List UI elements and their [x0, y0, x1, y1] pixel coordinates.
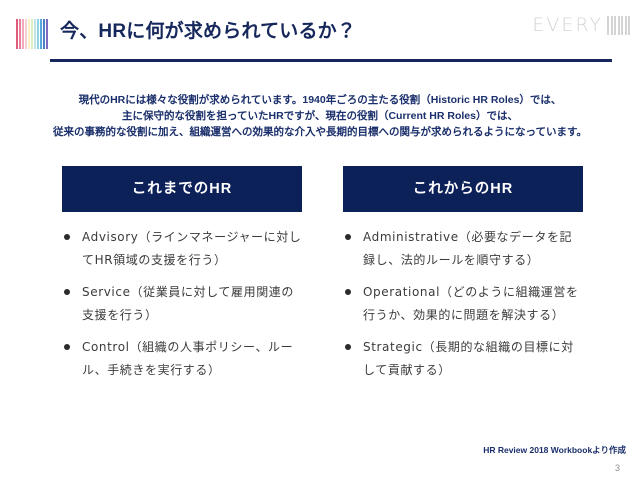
list-item: Service（従業員に対して雇用関連の支援を行う） [62, 281, 302, 327]
column-heading-past: これまでのHR [62, 166, 302, 212]
bullet-dot-icon [64, 344, 70, 350]
title-divider [50, 59, 612, 62]
lead-line-3: 従来の事務的な役割に加え、組織運営への効果的な介入や長期的目標への関与が求められ… [20, 124, 620, 140]
lead-paragraph: 現代のHRには様々な役割が求められています。1940年ごろの主たる役割（Hist… [20, 92, 620, 140]
list-item: Advisory（ラインマネージャーに対してHR領域の支援を行う） [62, 226, 302, 272]
slide-header: 今、HRに何が求められているか？ EVERY [0, 0, 640, 64]
bullet-dot-icon [345, 344, 351, 350]
bullet-dot-icon [345, 289, 351, 295]
list-item: Control（組織の人事ポリシー、ルール、手続きを実行する） [62, 336, 302, 382]
lead-line-2: 主に保守的な役割を担っていたHRですが、現在の役割（Current HR Rol… [20, 108, 620, 124]
brand-logo: EVERY [532, 14, 630, 36]
list-item: Strategic（長期的な組織の目標に対して貢献する） [343, 336, 583, 382]
brand-bars-icon [607, 16, 630, 35]
bullet-dot-icon [64, 289, 70, 295]
bullet-text: Administrative（必要なデータを記録し、法的ルールを順守する） [363, 230, 572, 267]
bullet-text: Control（組織の人事ポリシー、ルール、手続きを実行する） [82, 340, 293, 377]
column-past-hr: これまでのHR Advisory（ラインマネージャーに対してHR領域の支援を行う… [62, 166, 302, 391]
page-title: 今、HRに何が求められているか？ [60, 18, 356, 46]
brand-logo-text: EVERY [532, 14, 603, 36]
column-future-hr: これからのHR Administrative（必要なデータを記録し、法的ルールを… [343, 166, 583, 391]
accent-bars-icon [16, 19, 48, 49]
list-item: Operational（どのように組織運営を行うか、効果的に問題を解決する） [343, 281, 583, 327]
bullet-dot-icon [64, 234, 70, 240]
page-number: 3 [615, 463, 620, 473]
lead-line-1: 現代のHRには様々な役割が求められています。1940年ごろの主たる役割（Hist… [20, 92, 620, 108]
column-heading-future: これからのHR [343, 166, 583, 212]
list-item: Administrative（必要なデータを記録し、法的ルールを順守する） [343, 226, 583, 272]
bullet-list-past: Advisory（ラインマネージャーに対してHR領域の支援を行う） Servic… [62, 226, 302, 382]
comparison-columns: これまでのHR Advisory（ラインマネージャーに対してHR領域の支援を行う… [62, 166, 583, 391]
bullet-dot-icon [345, 234, 351, 240]
bullet-list-future: Administrative（必要なデータを記録し、法的ルールを順守する） Op… [343, 226, 583, 382]
bullet-text: Strategic（長期的な組織の目標に対して貢献する） [363, 340, 574, 377]
bullet-text: Service（従業員に対して雇用関連の支援を行う） [82, 285, 294, 322]
bullet-text: Advisory（ラインマネージャーに対してHR領域の支援を行う） [82, 230, 301, 267]
bullet-text: Operational（どのように組織運営を行うか、効果的に問題を解決する） [363, 285, 579, 322]
source-note: HR Review 2018 Workbookより作成 [483, 444, 626, 456]
